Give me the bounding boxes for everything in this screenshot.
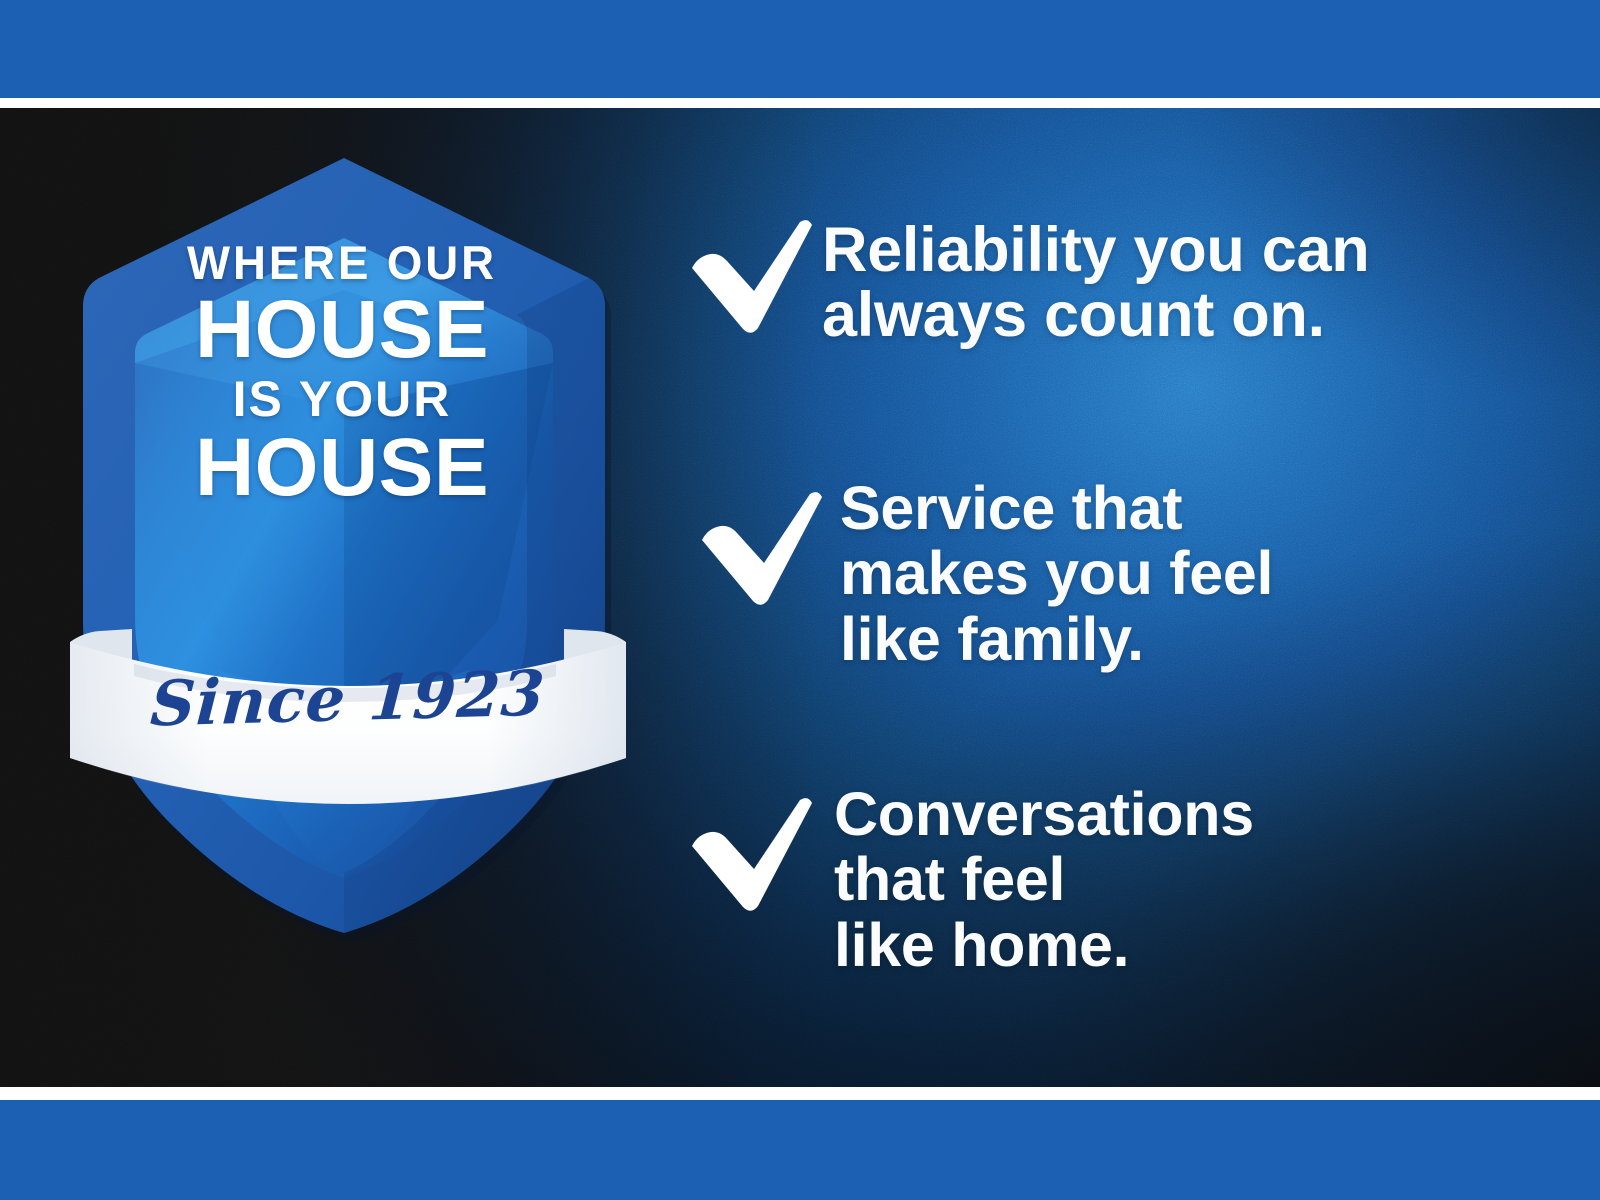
crest-line-4: HOUSE: [132, 428, 552, 508]
list-item: Reliability you can always count on.: [672, 216, 1369, 348]
promo-poster: WHERE OUR HOUSE IS YOUR HOUSE Since 1923…: [0, 0, 1600, 1200]
list-item: Service that makes you feel like family.: [682, 474, 1273, 672]
list-item-label: Reliability you can always count on.: [822, 216, 1369, 348]
checkmark-icon: [672, 794, 812, 914]
brand-bar-bottom: [0, 1100, 1600, 1200]
list-item-label: Service that makes you feel like family.: [840, 474, 1273, 672]
crest-line-3: IS YOUR: [132, 375, 552, 424]
checkmark-icon: [672, 216, 812, 336]
crest-wordmark: WHERE OUR HOUSE IS YOUR HOUSE: [132, 240, 552, 509]
benefits-list: Reliability you can always count on. Ser…: [672, 108, 1552, 1087]
logo-crest: WHERE OUR HOUSE IS YOUR HOUSE Since 1923: [68, 150, 628, 940]
brand-bar-top: [0, 0, 1600, 98]
checkmark-icon: [682, 488, 822, 608]
crest-line-2: HOUSE: [132, 290, 552, 370]
list-item-label: Conversations that feel like home.: [834, 780, 1254, 978]
crest-line-1: WHERE OUR: [138, 240, 545, 286]
list-item: Conversations that feel like home.: [672, 780, 1254, 978]
